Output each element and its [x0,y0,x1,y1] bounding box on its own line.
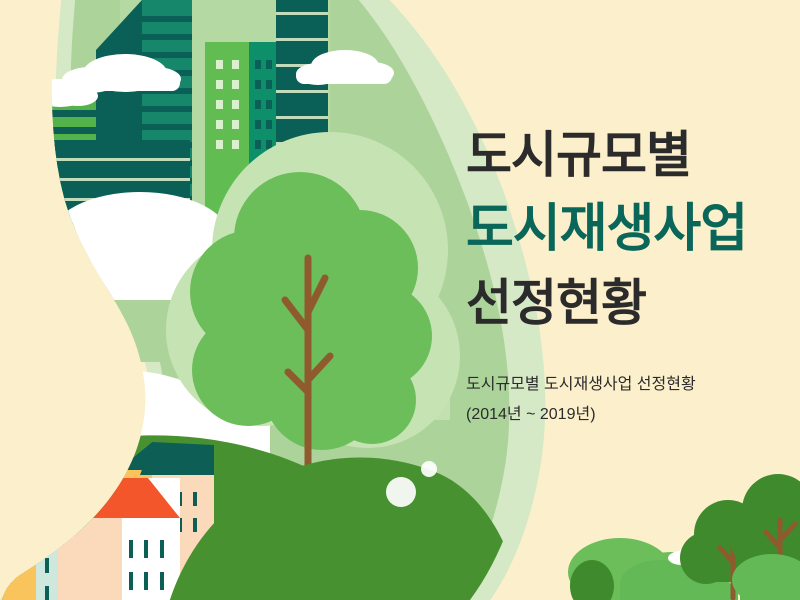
heading-block: 도시규모별 도시재생사업 선정현황 [466,118,796,340]
heading-line-1: 도시규모별 [466,118,796,192]
subtitle-line-2: (2014년 ~ 2019년) [466,400,796,430]
poster-canvas: 도시규모별 도시재생사업 선정현황 도시규모별 도시재생사업 선정현황 (201… [0,0,800,600]
bubble-large [386,477,416,507]
subtitle-line-1: 도시규모별 도시재생사업 선정현황 [466,370,796,400]
heading-line-3: 선정현황 [466,266,796,340]
bubble-small [421,461,437,477]
heading-line-2: 도시재생사업 [466,192,796,266]
subtitle-block: 도시규모별 도시재생사업 선정현황 (2014년 ~ 2019년) [466,370,796,430]
